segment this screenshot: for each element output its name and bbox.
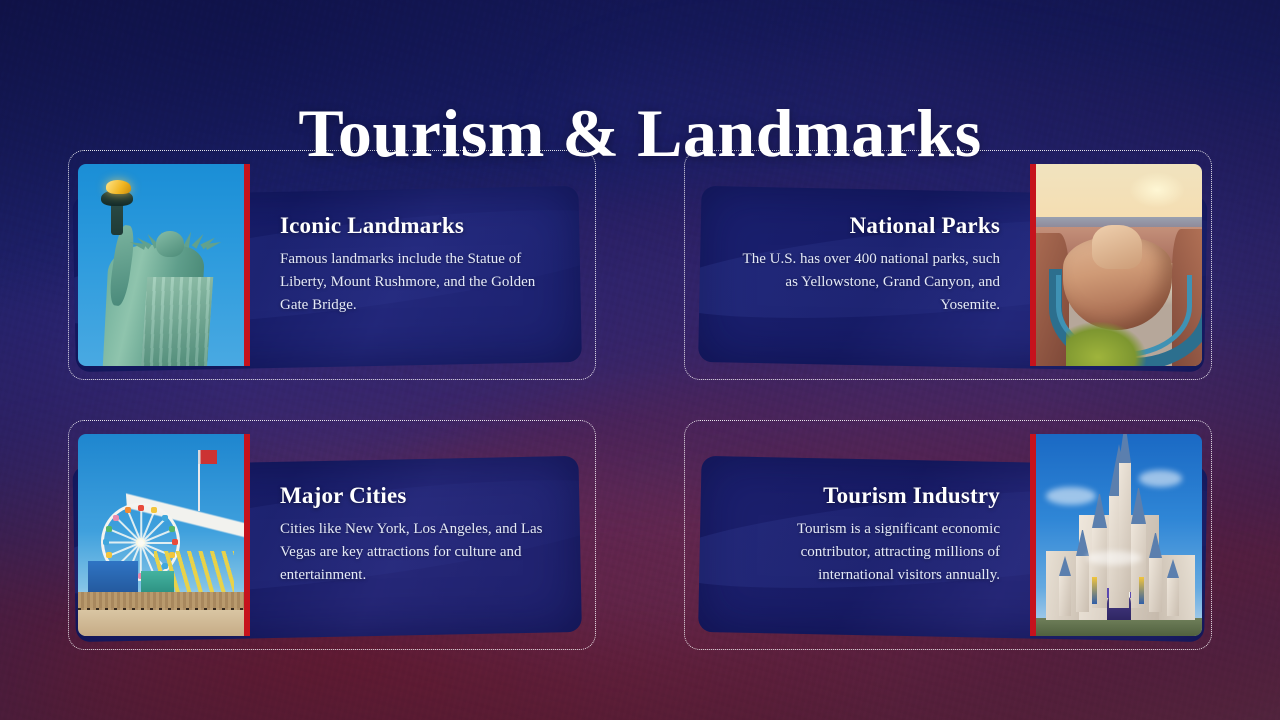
card-description: Cities like New York, Los Angeles, and L… <box>280 518 548 586</box>
horseshoe-bend-image <box>1036 164 1202 366</box>
red-accent-bar <box>244 434 250 636</box>
pier-ferris-wheel-image <box>78 434 244 636</box>
card-national-parks[interactable]: National Parks The U.S. has over 400 nat… <box>684 150 1212 380</box>
card-iconic-landmarks[interactable]: Iconic Landmarks Famous landmarks includ… <box>68 150 596 380</box>
card-tourism-industry[interactable]: Tourism Industry Tourism is a significan… <box>684 420 1212 650</box>
slide-tourism-landmarks: Tourism & Landmarks <box>0 0 1280 720</box>
page-title: Tourism & Landmarks <box>0 98 1280 169</box>
card-heading: Major Cities <box>280 483 570 509</box>
red-accent-bar <box>244 164 250 366</box>
card-major-cities[interactable]: Major Cities Cities like New York, Los A… <box>68 420 596 650</box>
card-description: Famous landmarks include the Statue of L… <box>280 248 548 316</box>
statue-of-liberty-image <box>78 164 244 366</box>
card-description: Tourism is a significant economic contri… <box>732 518 1000 586</box>
fairytale-castle-image <box>1036 434 1202 636</box>
card-thumbnail-wrap <box>78 434 250 636</box>
card-heading: Iconic Landmarks <box>280 213 570 239</box>
card-thumbnail-wrap <box>1030 434 1202 636</box>
card-heading: National Parks <box>850 213 1000 239</box>
card-description: The U.S. has over 400 national parks, su… <box>732 248 1000 316</box>
card-thumbnail-wrap <box>1030 164 1202 366</box>
card-heading: Tourism Industry <box>823 483 1000 509</box>
card-thumbnail-wrap <box>78 164 250 366</box>
